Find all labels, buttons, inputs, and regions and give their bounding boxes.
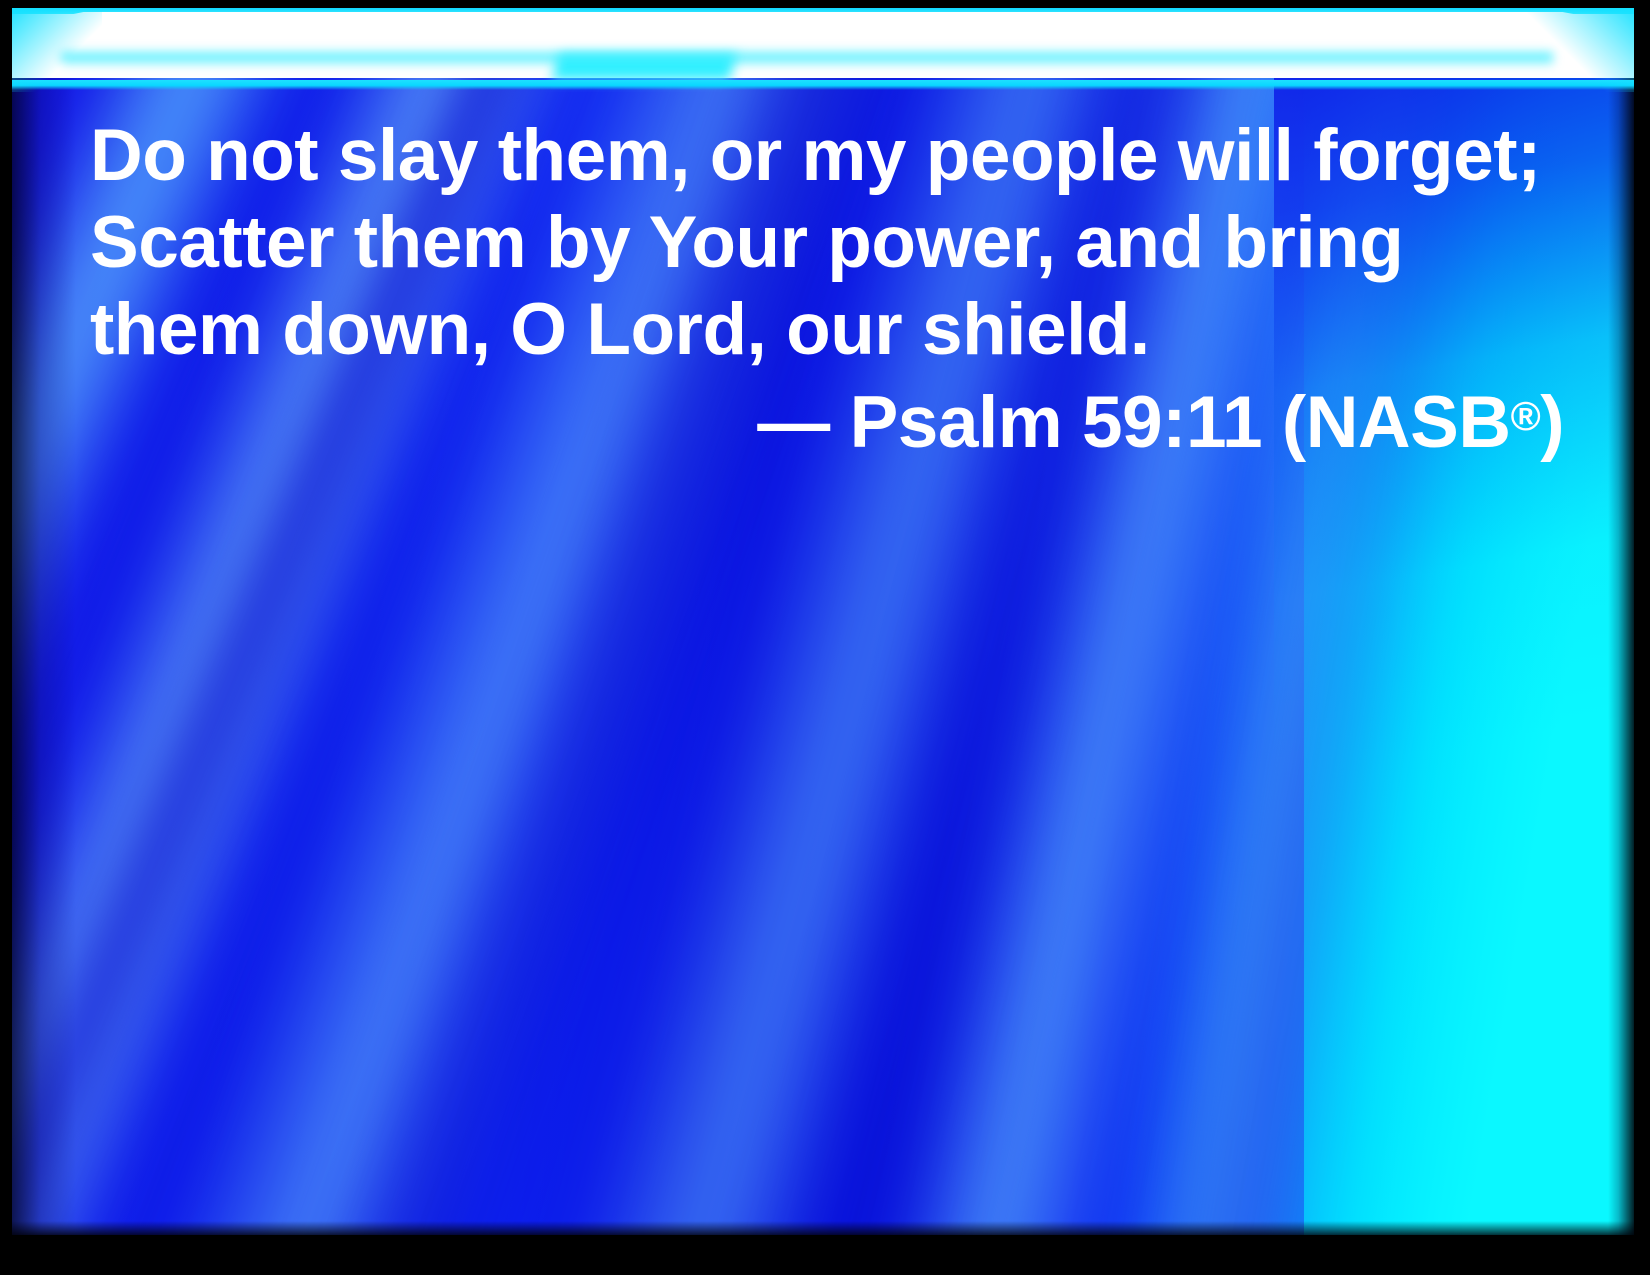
bottom-edge-shade [12,1221,1634,1235]
band-cyan-blob [553,54,737,80]
verse-text-block: Do not slay them, or my people will forg… [90,112,1570,466]
attribution-translation-close: ) [1540,382,1564,463]
verse-slide: Do not slay them, or my people will forg… [0,0,1650,1275]
band-corner-left-glow [12,8,102,92]
attribution-dash-and-book: — Psalm [757,382,1082,463]
attribution-translation-open: (NASB [1262,382,1510,463]
attribution-reference: 59:11 [1082,382,1262,463]
verse-line-2: Scatter them by Your power, and bring [90,199,1570,286]
verse-line-3: them down, O Lord, our shield. [90,286,1570,373]
left-edge-shade [12,8,76,1235]
top-glow-band [12,8,1634,92]
right-edge-shade [1608,8,1634,1235]
slide-artwork: Do not slay them, or my people will forg… [12,8,1634,1235]
verse-attribution: — Psalm 59:11 (NASB®) [90,373,1570,466]
verse-line-1: Do not slay them, or my people will forg… [90,112,1570,199]
registered-trademark-icon: ® [1511,393,1541,439]
band-cyan-bottom-line [12,80,1634,90]
band-white-bevel [12,14,1634,76]
band-corner-right-glow [1524,8,1634,92]
band-cyan-inner-glow [61,50,1553,65]
